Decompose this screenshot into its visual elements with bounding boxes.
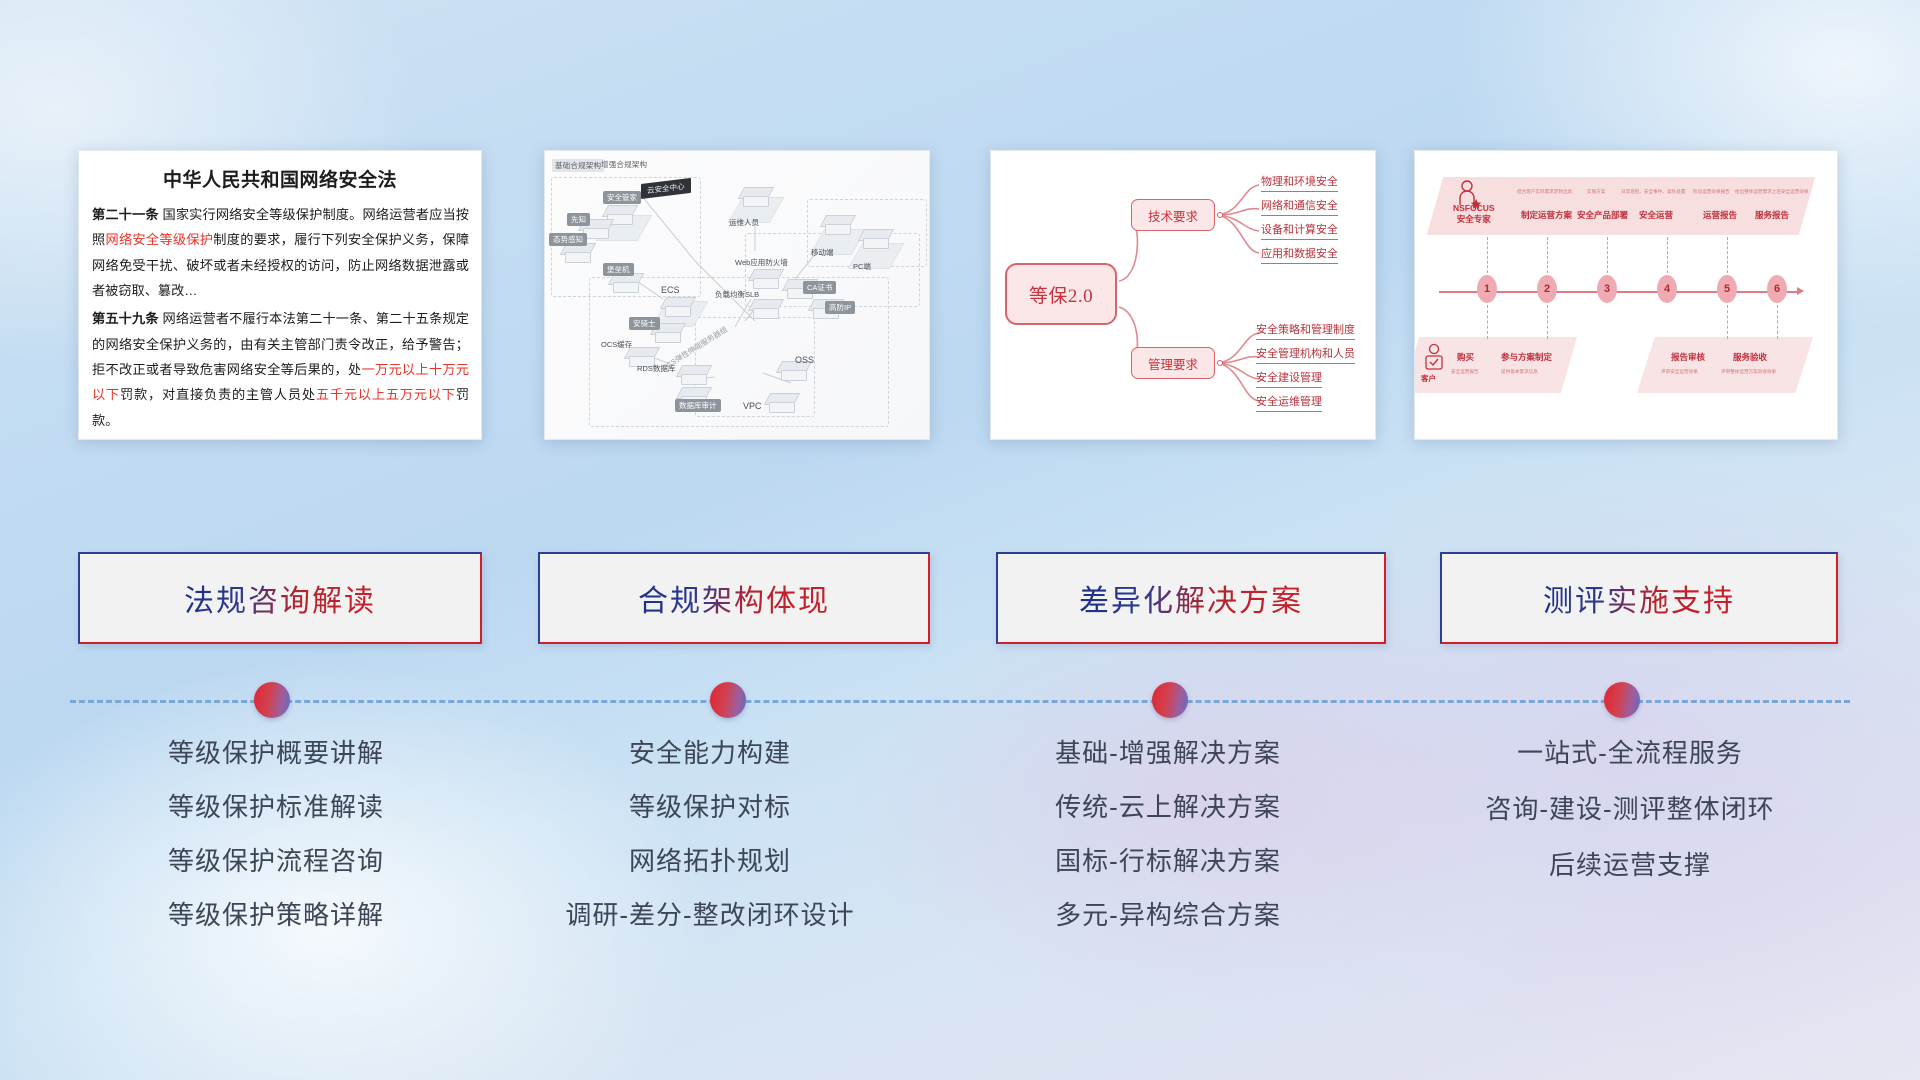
- nsfocus-top-sub-4: 阶段运营效果报告: [1693, 189, 1730, 195]
- law-article-21-red: 网络安全等级保护: [105, 232, 213, 247]
- mindmap-leaf-org: 安全管理机构和人员: [1256, 345, 1355, 364]
- nsfocus-lead-2: [1547, 237, 1548, 273]
- mindmap-branch-technical: 技术要求: [1131, 199, 1215, 231]
- arch-label-anti-ddos: 高防IP: [825, 301, 855, 314]
- list-item: 等级保护流程咨询: [96, 848, 456, 874]
- nsfocus-bottom-title-1: 购买: [1457, 351, 1474, 363]
- law-body: 第二十一条 国家实行网络安全等级保护制度。网络运营者应当按照网络安全等级保护制度…: [79, 202, 481, 440]
- nsfocus-top-sub-3: 日常巡检、安全事件、高危处置: [1621, 189, 1685, 195]
- feature-list-compliance-architecture: 安全能力构建 等级保护对标 网络拓扑规划 调研-差分-整改闭环设计: [520, 740, 900, 956]
- arch-node-mobile: [823, 215, 853, 237]
- law-article-21: 第二十一条 国家实行网络安全等级保护制度。网络运营者应当按照网络安全等级保护制度…: [92, 202, 469, 303]
- mindmap-root: 等保2.0: [1005, 263, 1117, 325]
- nsfocus-top-title-3: 安全运营: [1639, 209, 1673, 221]
- list-item: 一站式-全流程服务: [1420, 740, 1840, 766]
- nsfocus-bottom-title-3: 报告审核: [1671, 351, 1705, 363]
- nsfocus-step-5: 5: [1717, 275, 1737, 303]
- category-button-compliance-architecture[interactable]: 合规架构体现: [538, 552, 930, 644]
- nsfocus-bottom-title-2: 参与方案制定: [1501, 351, 1552, 363]
- arch-label-vpc: VPC: [743, 401, 762, 411]
- nsfocus-brand-line2: 安全专家: [1457, 214, 1491, 224]
- nsfocus-bottom-sub-4: 评审整体运营方案验收效果: [1721, 369, 1776, 375]
- arch-label-ca: CA证书: [803, 281, 836, 294]
- nsfocus-bottom-sub-1: 安全运营报告: [1451, 369, 1479, 375]
- list-item: 咨询-建设-测评整体闭环: [1420, 796, 1840, 822]
- timeline-dot-3[interactable]: [1152, 682, 1188, 718]
- mindmap-branch-management: 管理要求: [1131, 347, 1215, 379]
- arch-label-anqishi: 安骑士: [629, 317, 660, 330]
- card-cybersecurity-law[interactable]: 中华人民共和国网络安全法 第二十一条 国家实行网络安全等级保护制度。网络运营者应…: [78, 150, 482, 440]
- category-button-label-1: 法规咨询解读: [184, 576, 376, 620]
- nsfocus-top-title-1: 制定运营方案: [1521, 209, 1572, 221]
- mindmap-leaf-physical: 物理和环境安全: [1261, 173, 1338, 192]
- arch-label-oss: OSS: [795, 355, 814, 365]
- law-article-59: 第五十九条 网络运营者不履行本法第二十一条、第二十五条规定的网络安全保护义务的，…: [92, 306, 469, 433]
- arch-node-slb: [751, 299, 781, 321]
- law-article-21-label: 第二十一条: [92, 207, 159, 222]
- list-item: 后续运营支撑: [1420, 852, 1840, 878]
- nsfocus-lead-9: [1777, 305, 1778, 339]
- mindmap-node-dot-technical: [1217, 212, 1223, 218]
- nsfocus-step-1: 1: [1477, 275, 1497, 303]
- category-button-label-4: 测评实施支持: [1543, 576, 1735, 620]
- arch-label-xianzhi: 先知: [567, 213, 590, 226]
- list-item: 国标-行标解决方案: [978, 848, 1358, 874]
- nsfocus-brand-line1: NSFOCUS: [1453, 203, 1495, 213]
- nsfocus-axis-arrow: [1797, 287, 1804, 295]
- nsfocus-lead-3: [1607, 237, 1608, 273]
- nsfocus-top-title-4: 运营报告: [1703, 209, 1737, 221]
- nsfocus-lead-5: [1727, 237, 1728, 273]
- nsfocus-lead-8: [1727, 305, 1728, 339]
- list-item: 基础-增强解决方案: [978, 740, 1358, 766]
- arch-label-mobile: 移动端: [811, 247, 834, 258]
- arch-label-pc: PC端: [853, 261, 871, 272]
- list-item: 多元-异构综合方案: [978, 902, 1358, 928]
- law-article-59-text-b: 罚款，对直接负责的主管人员处: [120, 387, 316, 402]
- arch-label-bastion: 堡垒机: [603, 263, 634, 276]
- arch-node-ops-staff: [741, 187, 771, 209]
- timeline-dot-2[interactable]: [710, 682, 746, 718]
- law-article-59-label: 第五十九条: [92, 311, 159, 326]
- nsfocus-top-sub-1: 结合客户实际需求定制出具: [1517, 189, 1572, 195]
- feature-list-assessment-support: 一站式-全流程服务 咨询-建设-测评整体闭环 后续运营支撑: [1420, 740, 1840, 908]
- mindmap-leaf-network: 网络和通信安全: [1261, 197, 1338, 216]
- timeline-dashed-line: [70, 700, 1850, 703]
- nsfocus-top-sub-2: 实施方案: [1587, 189, 1605, 195]
- nsfocus-brand: NSFOCUS 安全专家: [1453, 203, 1495, 224]
- mindmap-leaf-ops: 安全运维管理: [1256, 393, 1322, 412]
- nsfocus-top-title-2: 安全产品部署: [1577, 209, 1628, 221]
- timeline-dot-4[interactable]: [1604, 682, 1640, 718]
- nsfocus-top-title-5: 服务报告: [1755, 209, 1789, 221]
- arch-label-ocs: OCS缓存: [601, 339, 632, 350]
- mindmap-leaf-device: 设备和计算安全: [1261, 221, 1338, 240]
- nsfocus-step-4: 4: [1657, 275, 1677, 303]
- mindmap: 等保2.0 技术要求 物理和环境安全 网络和通信安全 设备和计算安全 应用和数据…: [991, 151, 1375, 439]
- arch-node-vpc: [767, 393, 797, 415]
- list-item: 等级保护策略详解: [96, 902, 456, 928]
- feature-list-legal-consulting: 等级保护概要讲解 等级保护标准解读 等级保护流程咨询 等级保护策略详解: [96, 740, 456, 956]
- nsfocus-lead-6: [1487, 305, 1488, 339]
- category-button-label-3: 差异化解决方案: [1079, 576, 1303, 620]
- card-cloud-architecture[interactable]: 基础合规架构 增强合规架构 云安全中心: [544, 150, 930, 440]
- nsfocus-timeline: NSFOCUS 安全专家 结合客户实际需求定制出具 制定运营方案 实施方案 安全…: [1415, 151, 1837, 439]
- list-item: 等级保护标准解读: [96, 794, 456, 820]
- feature-list-differentiated-solutions: 基础-增强解决方案 传统-云上解决方案 国标-行标解决方案 多元-异构综合方案: [978, 740, 1358, 956]
- category-buttons-row: 法规咨询解读 合规架构体现 差异化解决方案 测评实施支持: [0, 552, 1920, 652]
- mindmap-leaf-application: 应用和数据安全: [1261, 245, 1338, 264]
- nsfocus-bottom-sub-3: 评审安全运营效果: [1661, 369, 1698, 375]
- card-nsfocus-service-timeline[interactable]: NSFOCUS 安全专家 结合客户实际需求定制出具 制定运营方案 实施方案 安全…: [1414, 150, 1838, 440]
- arch-label-situational-awareness: 态势感知: [549, 233, 587, 246]
- list-item: 调研-差分-整改闭环设计: [520, 902, 900, 928]
- nsfocus-lead-1: [1487, 237, 1488, 273]
- arch-label-ops-staff: 运维人员: [729, 217, 759, 228]
- list-item: 网络拓扑规划: [520, 848, 900, 874]
- card-mindmap-dengbao[interactable]: 等保2.0 技术要求 物理和环境安全 网络和通信安全 设备和计算安全 应用和数据…: [990, 150, 1376, 440]
- nsfocus-step-6: 6: [1767, 275, 1787, 303]
- arch-node-situational-awareness: [563, 243, 593, 265]
- nsfocus-step-2: 2: [1537, 275, 1557, 303]
- category-button-differentiated-solutions[interactable]: 差异化解决方案: [996, 552, 1386, 644]
- arch-label-ecs: ECS: [661, 285, 680, 295]
- nsfocus-bottom-title-4: 服务验收: [1733, 351, 1767, 363]
- law-article-59-red-2: 五千元以上五万元以下: [316, 387, 456, 402]
- mindmap-leaf-policy: 安全策略和管理制度: [1256, 321, 1355, 340]
- arch-node-ecs: [663, 297, 693, 319]
- category-button-legal-consulting[interactable]: 法规咨询解读: [78, 552, 482, 644]
- law-title: 中华人民共和国网络安全法: [79, 151, 481, 202]
- list-item: 等级保护概要讲解: [96, 740, 456, 766]
- category-button-assessment-support[interactable]: 测评实施支持: [1440, 552, 1838, 644]
- nsfocus-step-3: 3: [1597, 275, 1617, 303]
- arch-label-db-audit: 数据库审计: [675, 399, 721, 412]
- preview-cards-row: 中华人民共和国网络安全法 第二十一条 国家实行网络安全等级保护制度。网络运营者应…: [0, 150, 1920, 450]
- nsfocus-top-sub-5: 给出整体运营需求之后安全运营效果: [1735, 189, 1809, 195]
- timeline-dot-1[interactable]: [254, 682, 290, 718]
- arch-label-waf: Web应用防火墙: [735, 257, 788, 268]
- list-item: 安全能力构建: [520, 740, 900, 766]
- arch-node-waf: [751, 269, 781, 291]
- list-item: 等级保护对标: [520, 794, 900, 820]
- architecture-diagram: 基础合规架构 增强合规架构 云安全中心: [545, 151, 929, 439]
- nsfocus-bottom-right-band: [1637, 337, 1813, 393]
- arch-node-rds: [679, 365, 709, 387]
- arch-node-pc: [861, 229, 891, 251]
- nsfocus-lead-7: [1547, 305, 1548, 339]
- category-button-label-2: 合规架构体现: [638, 576, 830, 620]
- arch-node-bastion: [611, 273, 641, 295]
- list-item: 传统-云上解决方案: [978, 794, 1358, 820]
- mindmap-leaf-construction: 安全建设管理: [1256, 369, 1322, 388]
- nsfocus-lead-4: [1667, 237, 1668, 273]
- nsfocus-customer-label: 客户: [1421, 373, 1436, 384]
- mindmap-node-dot-management: [1217, 360, 1223, 366]
- customer-person-icon: [1421, 343, 1447, 377]
- arch-label-security-butler: 安全管家: [603, 191, 641, 204]
- nsfocus-bottom-sub-2: 提供基本需求信息: [1501, 369, 1538, 375]
